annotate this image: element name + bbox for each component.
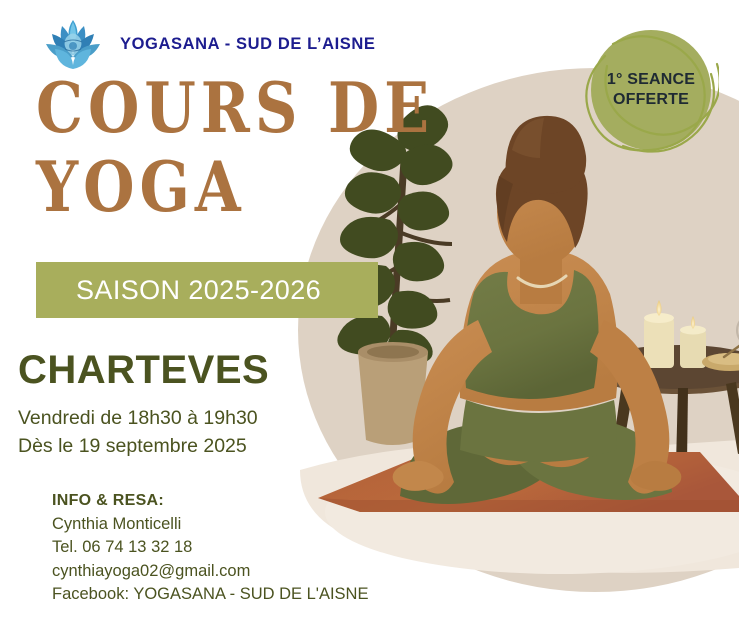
side-table (594, 345, 739, 464)
incense-dish (702, 294, 739, 371)
title-line-2: YOGA (36, 153, 434, 221)
yoga-class-poster: YOGASANA - SUD DE L’AISNE COURS DE YOGA … (0, 0, 739, 619)
contact-name: Cynthia Monticelli (52, 513, 368, 536)
contact-facebook: Facebook: YOGASANA - SUD DE L'AISNE (52, 583, 368, 606)
floor-highlight (325, 450, 739, 574)
season-banner: SAISON 2025-2026 (36, 262, 378, 318)
brand-name: YOGASANA - SUD DE L’AISNE (120, 35, 376, 54)
header: YOGASANA - SUD DE L’AISNE (44, 16, 376, 72)
contact-heading: INFO & RESA: (52, 492, 368, 510)
page-title: COURS DE YOGA (36, 74, 434, 210)
candles (644, 300, 706, 368)
head (497, 158, 585, 266)
contact-block: INFO & RESA: Cynthia Monticelli Tel. 06 … (52, 492, 368, 607)
promo-badge-text: 1° SEANCE OFFERTE (591, 30, 711, 150)
city-name: CHARTEVES (18, 348, 269, 393)
promo-badge: 1° SEANCE OFFERTE (583, 22, 719, 158)
title-line-1: COURS DE (36, 74, 434, 142)
contact-phone: Tel. 06 74 13 32 18 (52, 536, 368, 559)
lotus-flower-icon (44, 16, 102, 72)
hair-bun (506, 116, 587, 194)
hair (496, 154, 588, 248)
yoga-mat (318, 452, 739, 512)
schedule-start-date: Dès le 19 septembre 2025 (18, 432, 258, 460)
plant-pot (358, 352, 428, 445)
season-label: SAISON 2025-2026 (36, 275, 321, 306)
woman-figure (393, 116, 682, 504)
schedule-block: Vendredi de 18h30 à 19h30 Dès le 19 sept… (18, 404, 258, 461)
promo-badge-line-1: 1° SEANCE (607, 71, 695, 89)
contact-email: cynthiayoga02@gmail.com (52, 560, 368, 583)
promo-badge-line-2: OFFERTE (613, 91, 689, 109)
sports-bra (465, 270, 599, 399)
schedule-day-time: Vendredi de 18h30 à 19h30 (18, 404, 258, 432)
